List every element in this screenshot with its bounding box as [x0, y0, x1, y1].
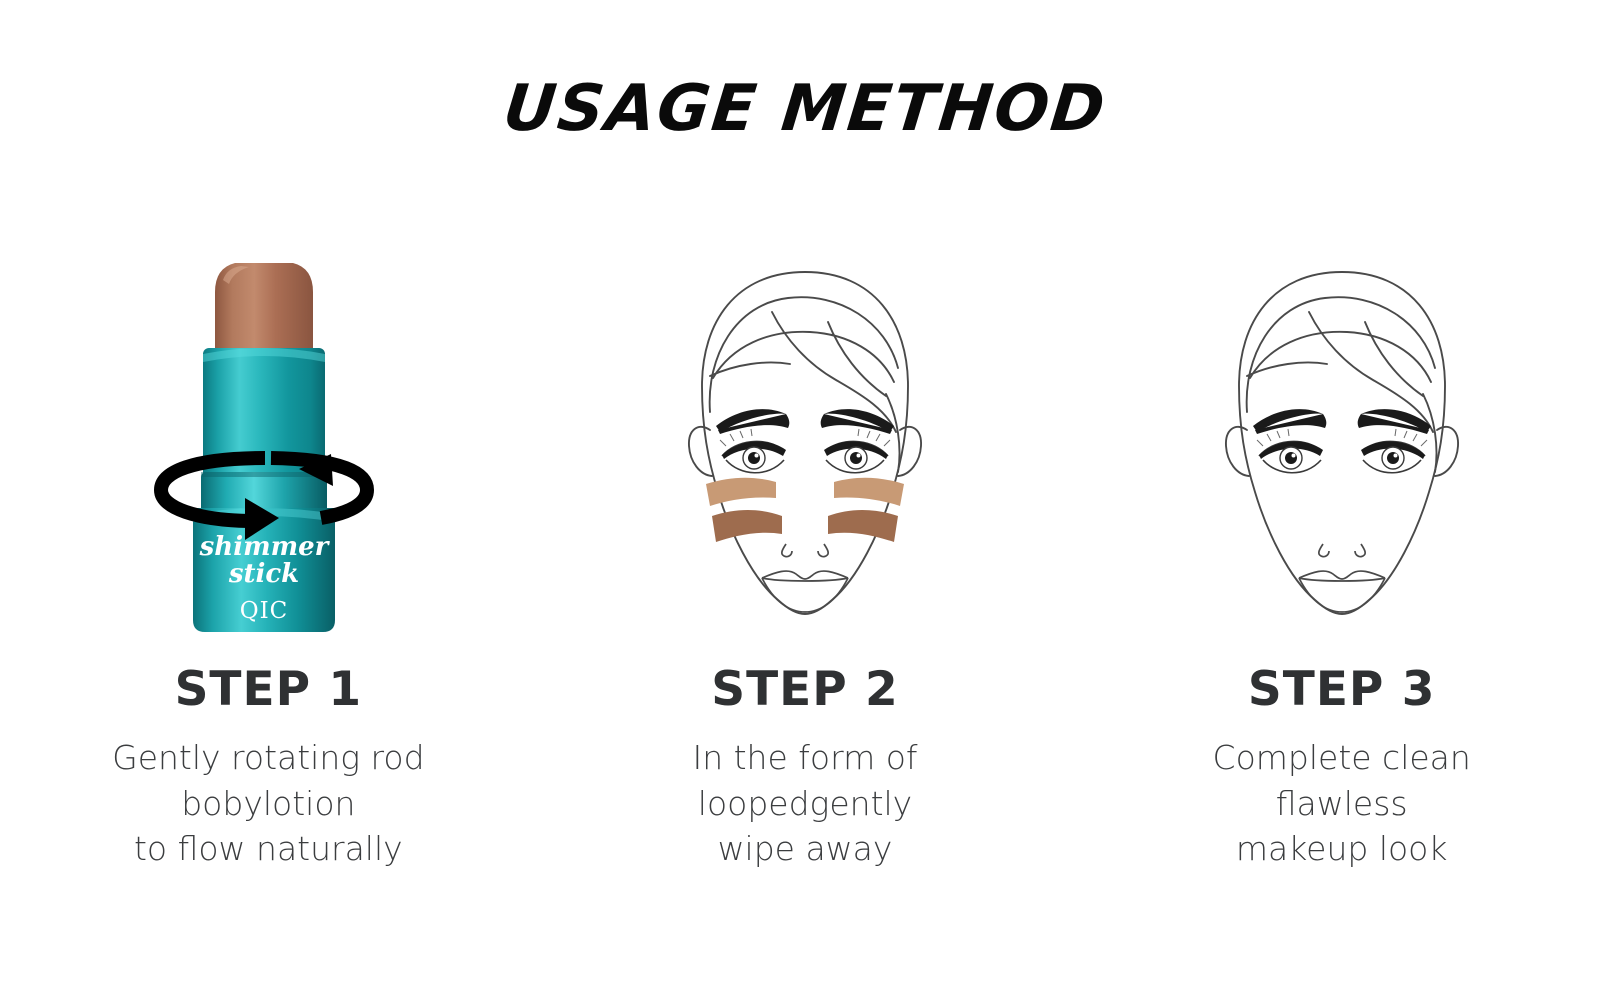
step-3-title: STEP 3 [1248, 666, 1436, 713]
product-name-line1: shimmer [199, 532, 331, 562]
product-name-line2: stick [228, 559, 299, 589]
step-card-1: shimmer stick QIC [0, 250, 537, 950]
step-1-artwork: shimmer stick QIC [0, 250, 537, 650]
step-1-caption: Gently rotating rod bobylotion to flow n… [112, 735, 424, 872]
lips [1299, 571, 1385, 612]
face-illustration-clean [1177, 260, 1507, 650]
contour-stripe-light-right [834, 478, 904, 506]
step-card-2: STEP 2 In the form of loopedgently wipe … [537, 250, 1074, 950]
nose [1318, 544, 1364, 557]
step-2-artwork [537, 250, 1074, 650]
page-title: USAGE METHOD [0, 72, 1610, 146]
product-stick-svg: shimmer stick QIC [153, 250, 383, 650]
step-2-title: STEP 2 [711, 666, 899, 713]
contour-stripe-dark-right [828, 510, 898, 542]
contour-stripe-light-left [706, 478, 776, 506]
contour-stripe-dark-left [712, 510, 782, 542]
eyebrows [1253, 409, 1431, 434]
eyebrows [716, 409, 894, 434]
product-rotation-ring [201, 472, 327, 514]
product-bullet [215, 263, 313, 353]
step-3-artwork [1073, 250, 1610, 650]
nose [782, 544, 828, 557]
eyes [1257, 429, 1427, 473]
steps-row: shimmer stick QIC [0, 250, 1610, 950]
product-brand: QIC [240, 598, 289, 624]
product-stick-illustration: shimmer stick QIC [153, 250, 383, 650]
eyes [720, 429, 890, 473]
usage-method-infographic: USAGE METHOD [0, 0, 1610, 986]
face-illustration-contoured [640, 260, 970, 650]
step-1-title: STEP 1 [175, 666, 363, 713]
step-2-caption: In the form of loopedgently wipe away [692, 735, 917, 872]
step-3-caption: Complete clean flawless makeup look [1213, 735, 1471, 872]
contour-stripes [706, 478, 904, 542]
step-card-3: STEP 3 Complete clean flawless makeup lo… [1073, 250, 1610, 950]
lips [762, 571, 848, 612]
